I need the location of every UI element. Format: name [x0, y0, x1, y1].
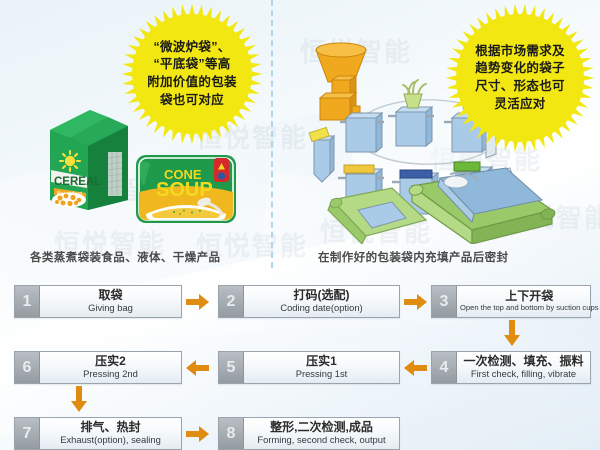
step-body: 压实1 Pressing 1st — [244, 352, 399, 383]
flow-step-1[interactable]: 1 取袋 Giving bag — [14, 285, 182, 318]
step-label-en: Pressing 1st — [296, 369, 348, 379]
flow-step-8[interactable]: 8 整形,二次检测,成品 Forming, second check, outp… — [218, 417, 400, 450]
step-label-en: Pressing 2nd — [83, 369, 138, 379]
step-label-cn: 打码(选配) — [294, 289, 350, 302]
badge-left-text: “微波炉袋”、“平底袋”等高附加价值的包装袋也可对应 — [139, 39, 245, 110]
arrow-left-icon — [404, 360, 428, 376]
badge-right-starburst: 根据市场需求及趋势变化的袋子尺寸、形态也可灵活应对 — [456, 14, 584, 142]
step-number: 4 — [432, 352, 457, 383]
step-label-cn: 整形,二次检测,成品 — [270, 421, 373, 434]
flow-step-6[interactable]: 6 压实2 Pressing 2nd — [14, 351, 182, 384]
flow-step-7[interactable]: 7 排气、热封 Exhaust(option), sealing — [14, 417, 182, 450]
step-label-cn: 压实1 — [306, 355, 337, 368]
step-label-en: Open the top and bottom by suction cups — [460, 304, 598, 312]
step-label-cn: 排气、热封 — [80, 421, 140, 434]
arrow-down-icon — [71, 386, 87, 412]
step-body: 取袋 Giving bag — [40, 286, 181, 317]
step-number: 8 — [219, 418, 244, 449]
step-body: 一次检测、填充、振料 First check, filling, vibrate — [457, 352, 590, 383]
press-head — [344, 165, 374, 173]
step-label-cn: 压实2 — [95, 355, 126, 368]
badge-left-starburst: “微波炉袋”、“平底袋”等高附加价值的包装袋也可对应 — [132, 14, 252, 134]
caption-right: 在制作好的包装袋内充填产品后密封 — [318, 249, 508, 265]
step-label-en: First check, filling, vibrate — [471, 369, 576, 379]
badge-right-text: 根据市场需求及趋势变化的袋子尺寸、形态也可灵活应对 — [467, 43, 573, 114]
step-body: 排气、热封 Exhaust(option), sealing — [40, 418, 181, 449]
step-label-cn: 取袋 — [98, 289, 122, 302]
step-label-cn: 上下开袋 — [505, 290, 553, 303]
cereal-label-main: CEREAL — [54, 176, 101, 188]
bag-station — [340, 113, 384, 152]
flow-step-5[interactable]: 5 压实1 Pressing 1st — [218, 351, 400, 384]
step-number: 3 — [432, 286, 457, 317]
cereal-box-illustration: CEREAL Breakfast — [46, 104, 132, 212]
step-body: 压实2 Pressing 2nd — [40, 352, 181, 383]
step-body: 上下开袋 Open the top and bottom by suction … — [457, 286, 600, 317]
flow-step-2[interactable]: 2 打码(选配) Coding date(option) — [218, 285, 400, 318]
infographic-page: 恒悦智能 恒悦智能 恒悦智能 恒悦智能 恒悦智能 恒悦智能 恒悦智能 恒悦智能 — [0, 0, 600, 450]
bag-station — [314, 136, 334, 182]
arrow-left-icon — [186, 360, 210, 376]
step-body: 整形,二次检测,成品 Forming, second check, output — [244, 418, 399, 449]
step-number: 5 — [219, 352, 244, 383]
step-number: 2 — [219, 286, 244, 317]
step-label-en: Exhaust(option), sealing — [60, 435, 161, 445]
press-head — [454, 162, 480, 171]
arrow-right-icon — [404, 294, 428, 310]
soup-pouch-illustration: CONE SOUP — [134, 152, 238, 226]
step-number: 1 — [15, 286, 40, 317]
flow-step-4[interactable]: 4 一次检测、填充、振料 First check, filling, vibra… — [431, 351, 591, 384]
press-head — [400, 170, 432, 178]
soup-label-main: SOUP — [156, 179, 213, 201]
arrow-right-icon — [186, 426, 210, 442]
step-body: 打码(选配) Coding date(option) — [244, 286, 399, 317]
step-number: 6 — [15, 352, 40, 383]
arrow-down-icon — [504, 320, 520, 346]
flow-step-3[interactable]: 3 上下开袋 Open the top and bottom by suctio… — [431, 285, 591, 318]
step-number: 7 — [15, 418, 40, 449]
step-label-en: Forming, second check, output — [257, 435, 385, 445]
step-label-cn: 一次检测、填充、振料 — [463, 355, 583, 368]
caption-left: 各类蒸煮袋装食品、液体、干燥产品 — [30, 249, 220, 265]
step-label-en: Giving bag — [88, 303, 133, 313]
step-label-en: Coding date(option) — [280, 303, 362, 313]
panel-divider — [271, 0, 273, 268]
arrow-right-icon — [186, 294, 210, 310]
